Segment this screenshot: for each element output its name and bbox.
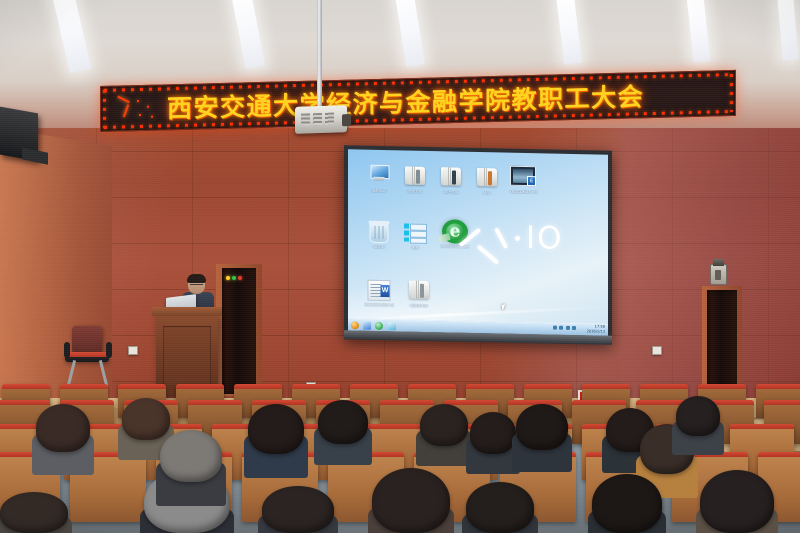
screen-surface[interactable]: 我的电脑我的文档网上邻居会议E《教职工大会》ppt回收站便笺Internet E…: [348, 149, 608, 335]
taskbar-item-ie[interactable]: [375, 321, 383, 329]
audience-member-head: [676, 396, 720, 436]
audience-member-head: [700, 470, 774, 533]
folder-icon: [472, 166, 502, 191]
stage-office-chair[interactable]: [62, 326, 114, 388]
word-icon: W: [364, 278, 394, 303]
start-button[interactable]: [351, 321, 359, 329]
desktop-icon-label: 网上邻居: [436, 190, 466, 195]
audience-member-head: [248, 404, 304, 454]
desktop-icon-screenshot[interactable]: E《教职工大会》ppt: [508, 165, 538, 195]
audience-member-head: [0, 492, 68, 533]
desktop-icon-label: Microsoft Office Word 2003: [364, 303, 394, 308]
audience-member-head: [262, 486, 334, 533]
clock-date: 2016/1/13: [587, 329, 605, 334]
desktop-icon-label: 会议: [472, 191, 502, 196]
desktop-icon-label: 回收站: [364, 245, 394, 250]
folder-icon: [436, 165, 466, 190]
audience-member-head: [466, 482, 534, 533]
desktop-icon-group[interactable]: 我的电脑我的文档网上邻居会议E《教职工大会》ppt回收站便笺Internet E…: [348, 149, 608, 154]
desktop-icon-label: 我的电脑: [364, 189, 394, 194]
computer-icon: [364, 164, 394, 189]
audience-member-head: [318, 400, 368, 444]
notes-icon: [400, 220, 430, 245]
wall-outlet-7[interactable]: [128, 346, 138, 355]
wall-outlet-6[interactable]: [652, 346, 662, 355]
vaio-logo-dot: [515, 236, 520, 241]
vaio-logo: IO: [460, 214, 585, 259]
projection-screen[interactable]: 我的电脑我的文档网上邻居会议E《教职工大会》ppt回收站便笺Internet E…: [344, 145, 612, 345]
taskbar-item-3[interactable]: [388, 322, 396, 330]
stage-left-door[interactable]: [222, 268, 256, 394]
led-banner-text: 西安交通大学经济与金融学院教职工大会: [167, 77, 644, 125]
desktop-icon-folder[interactable]: 会议: [472, 166, 502, 196]
desktop-icon-folder[interactable]: 新建文件夹: [404, 278, 434, 308]
audience-member-head: [372, 468, 450, 533]
desktop-icon-folder[interactable]: 网上邻居: [436, 165, 466, 195]
projector-lens: [342, 114, 351, 126]
taskbar-clock[interactable]: 17:58 2016/1/13: [587, 324, 605, 334]
desktop-icon-label: 新建文件夹: [404, 303, 434, 308]
taskbar-item-1[interactable]: [363, 321, 371, 329]
wall-speaker-right: [710, 264, 727, 285]
door-indicator-lights: [226, 276, 242, 280]
abstract-led-graphic: [115, 96, 159, 123]
desktop-icon-label: 《教职工大会》ppt: [508, 190, 538, 195]
audience-member-head: [516, 404, 568, 450]
auditorium-scene: 西安交通大学经济与金融学院教职工大会 我的电脑我的文档网上邻居会议E《教职工大会…: [0, 0, 800, 533]
audience-member-head: [122, 398, 170, 440]
system-tray[interactable]: [553, 326, 577, 330]
folder-icon: [404, 278, 434, 303]
desktop-icon-notes[interactable]: 便笺: [400, 220, 430, 250]
audience-member-head: [420, 404, 468, 446]
desktop-icon-computer[interactable]: 我的电脑: [364, 164, 394, 194]
desktop-icon-recyclebin[interactable]: 回收站: [364, 220, 394, 250]
audience-member-head: [592, 474, 662, 533]
recyclebin-icon: [364, 220, 394, 245]
vaio-logo-text: IO: [526, 220, 564, 257]
audience-member-head: [36, 404, 90, 452]
desktop-icon-label: 我的文档: [400, 189, 430, 194]
audience-member-head: [160, 430, 222, 482]
desktop-icon-folder[interactable]: 我的文档: [400, 164, 430, 194]
presenter-glasses: [190, 284, 203, 288]
audience-member-head: [470, 412, 516, 454]
desktop-icon-label: 便笺: [400, 245, 430, 250]
desktop-icon-word[interactable]: WMicrosoft Office Word 2003: [364, 278, 394, 308]
folder-icon: [400, 164, 430, 189]
screenshot-icon: E: [508, 165, 538, 190]
projector-mount-pole: [317, 0, 322, 108]
ceiling-mounted-projector: [295, 105, 347, 134]
